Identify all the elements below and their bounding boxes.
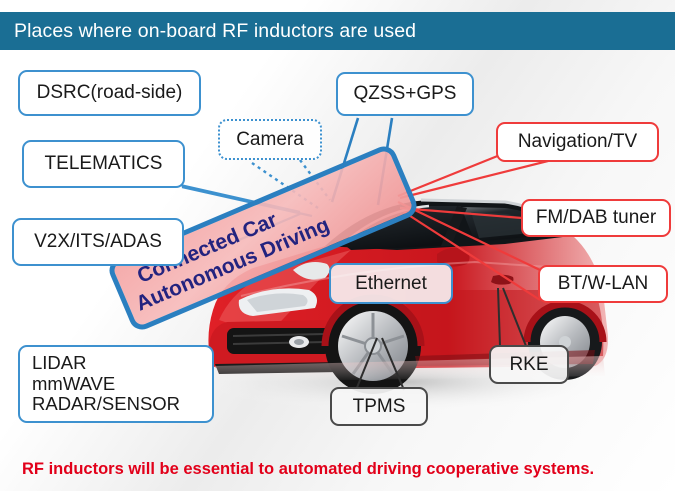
label-fmdab[interactable]: FM/DAB tuner	[521, 199, 671, 237]
label-btwlan[interactable]: BT/W-LAN	[538, 265, 668, 303]
label-rke[interactable]: RKE	[489, 345, 569, 384]
label-navigation[interactable]: Navigation/TV	[496, 122, 659, 162]
label-v2x-text: V2X/ITS/ADAS	[34, 231, 162, 252]
leader-rke-b	[503, 288, 526, 346]
label-telematics[interactable]: TELEMATICS	[22, 140, 185, 188]
leader-rke-a	[498, 288, 500, 346]
label-qzss-text: QZSS+GPS	[354, 83, 457, 104]
label-camera[interactable]: Camera	[218, 119, 322, 160]
label-btwlan-text: BT/W-LAN	[558, 273, 648, 294]
infographic-root: Places where on-board RF inductors are u…	[0, 0, 675, 491]
label-dsrc[interactable]: DSRC(road-side)	[18, 70, 201, 116]
label-telematics-text: TELEMATICS	[45, 153, 163, 174]
leader-btwlan-a	[398, 202, 540, 270]
label-ethernet[interactable]: Ethernet	[329, 263, 453, 304]
label-tpms[interactable]: TPMS	[330, 387, 428, 426]
leader-tpms-a	[356, 338, 377, 390]
label-lidar[interactable]: LIDAR mmWAVE RADAR/SENSOR	[18, 345, 214, 423]
label-dsrc-text: DSRC(road-side)	[37, 82, 183, 103]
footer-caption: RF inductors will be essential to automa…	[0, 460, 594, 479]
label-tpms-text: TPMS	[353, 396, 406, 417]
footer-bar: RF inductors will be essential to automa…	[0, 452, 675, 486]
label-rke-text: RKE	[509, 354, 548, 375]
label-navigation-text: Navigation/TV	[518, 131, 637, 152]
leader-navigation-a	[398, 155, 500, 196]
label-v2x[interactable]: V2X/ITS/ADAS	[12, 218, 184, 266]
leader-tpms-b	[382, 338, 404, 390]
leader-fmdab	[400, 208, 522, 218]
label-camera-text: Camera	[236, 129, 304, 150]
label-lidar-text: LIDAR mmWAVE RADAR/SENSOR	[32, 353, 180, 415]
label-qzss[interactable]: QZSS+GPS	[336, 72, 474, 116]
label-ethernet-text: Ethernet	[355, 273, 427, 294]
label-fmdab-text: FM/DAB tuner	[536, 207, 656, 228]
